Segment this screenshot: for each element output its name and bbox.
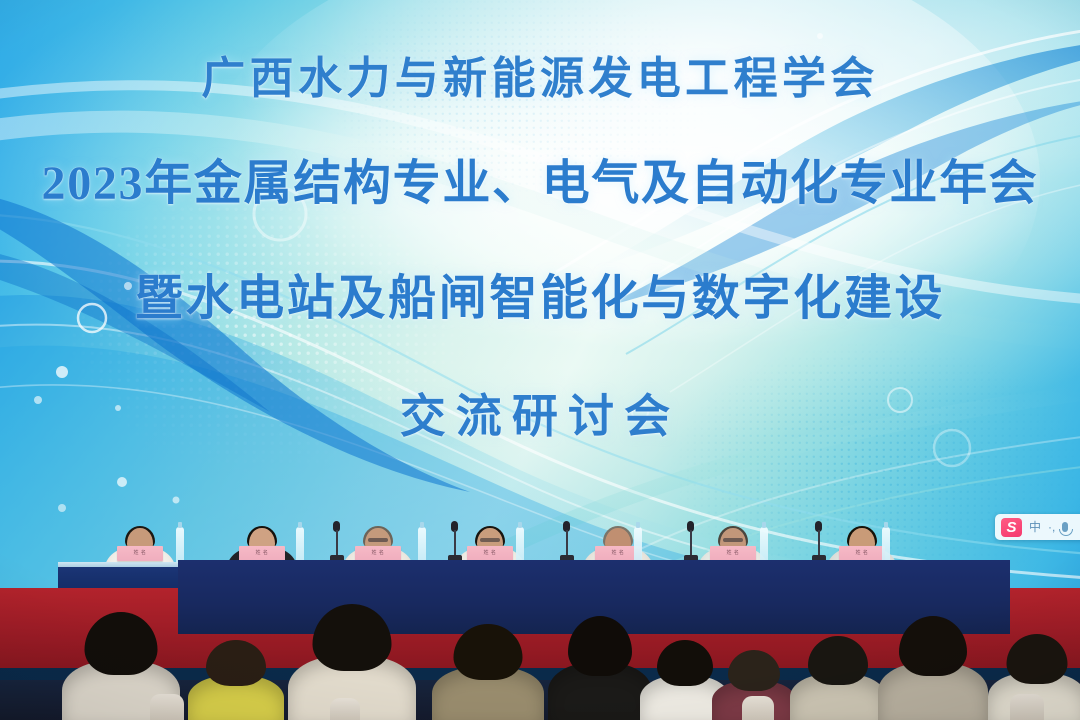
- conference-photo: 广西水力与新能源发电工程学会 2023年金属结构专业、电气及自动化专业年会 暨水…: [0, 0, 1080, 720]
- audience-head: [899, 616, 967, 676]
- panelist-name-text: 姓 名: [467, 546, 513, 561]
- water-bottle: [882, 527, 890, 563]
- panelist-name-text: 姓 名: [355, 546, 401, 561]
- panelist-name-card: 姓 名: [467, 546, 513, 561]
- panelist-name-card: 姓 名: [839, 546, 885, 561]
- panelist-glasses: [723, 538, 743, 542]
- microphone-neck: [690, 530, 692, 556]
- title-line-2: 2023年金属结构专业、电气及自动化专业年会: [0, 143, 1080, 213]
- audience-head: [313, 604, 392, 671]
- audience-head: [568, 616, 632, 676]
- microphone-neck: [454, 530, 456, 556]
- audience-head: [85, 612, 158, 675]
- gooseneck-microphone: [812, 520, 826, 565]
- audience-member: [548, 616, 652, 720]
- gooseneck-microphone: [330, 520, 344, 565]
- title-line-1: 广西水力与新能源发电工程学会: [0, 42, 1080, 106]
- gooseneck-microphone: [560, 520, 574, 565]
- microphone-neck: [566, 530, 568, 556]
- gooseneck-microphone: [448, 520, 462, 565]
- panelist-name-text: 姓 名: [710, 546, 756, 561]
- microphone-neck: [818, 530, 820, 556]
- water-bottle: [760, 527, 768, 563]
- audience-head: [206, 640, 266, 686]
- panelist-name-card: 姓 名: [710, 546, 756, 561]
- audience-foreground: [0, 560, 1080, 720]
- microphone-neck: [336, 530, 338, 556]
- water-bottle: [516, 527, 524, 563]
- panelist-name-card: 姓 名: [117, 546, 163, 561]
- banquet-chair-back: [1010, 694, 1044, 720]
- audience-head: [808, 636, 868, 685]
- panelist-glasses: [368, 538, 388, 542]
- audience-member: [188, 640, 284, 720]
- audience-head: [657, 640, 713, 686]
- audience-head: [1007, 634, 1068, 684]
- audience-member: [790, 636, 886, 720]
- panelist-name-card: 姓 名: [239, 546, 285, 561]
- banquet-chair-back: [330, 698, 360, 720]
- panelist-name-text: 姓 名: [117, 546, 163, 561]
- water-bottle: [634, 527, 642, 563]
- audience-head: [728, 650, 780, 691]
- water-bottle: [418, 527, 426, 563]
- panelist-name-text: 姓 名: [239, 546, 285, 561]
- banquet-chair-back: [150, 694, 184, 720]
- title-line-4: 交流研讨会: [0, 380, 1080, 446]
- panelist-glasses: [480, 538, 500, 542]
- panelist-name-card: 姓 名: [355, 546, 401, 561]
- audience-head: [454, 624, 523, 680]
- panelist-name-text: 姓 名: [839, 546, 885, 561]
- water-bottle: [176, 527, 184, 563]
- banquet-chair-back: [742, 696, 774, 720]
- gooseneck-microphone: [684, 520, 698, 565]
- audience-member: [432, 624, 544, 720]
- audience-member: [878, 616, 988, 720]
- title-line-3: 暨水电站及船闸智能化与数字化建设: [0, 258, 1080, 328]
- water-bottle: [296, 527, 304, 563]
